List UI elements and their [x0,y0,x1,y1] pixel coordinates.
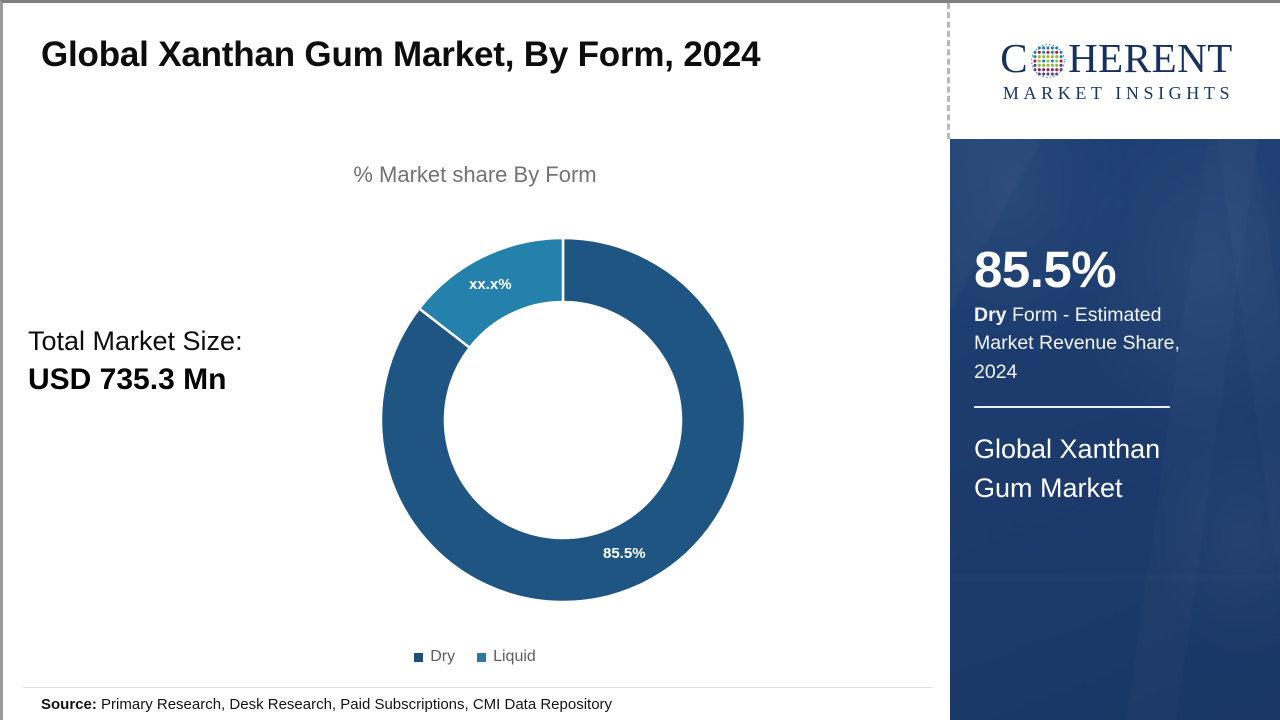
globe-dot [1047,50,1050,53]
globe-dot [1042,72,1045,75]
total-market-size-value: USD 735.3 Mn [28,361,358,399]
brand-wordmark: C HERENT [1000,38,1233,79]
legend-label-liquid: Liquid [493,648,536,666]
source-text: Primary Research, Desk Research, Paid Su… [97,696,612,713]
highlight-panel: 85.5% Dry Form - Estimated Market Revenu… [950,139,1280,720]
globe-dot [1047,46,1050,49]
brand-name-part2: HERENT [1068,38,1233,79]
globe-dot [1055,55,1058,58]
legend-label-dry: Dry [430,648,455,666]
globe-dot [1038,63,1041,66]
globe-dot [1051,63,1054,66]
globe-dot [1033,55,1036,58]
panel-description: Dry Form - Estimated Market Revenue Shar… [974,301,1220,386]
legend-swatch-liquid [477,653,486,662]
globe-dot [1038,55,1041,58]
brand-logo: C HERENT MARKET INSIGHTS [950,3,1280,139]
globe-dot [1038,50,1041,53]
globe-dot [1042,55,1045,58]
chart-subtitle: % Market share By Form [3,162,947,188]
globe-dot [1055,50,1058,53]
panel-content: 85.5% Dry Form - Estimated Market Revenu… [974,244,1244,507]
infographic-canvas: Global Xanthan Gum Market, By Form, 2024… [0,0,1280,720]
globe-dot [1047,72,1050,75]
brand-tagline: MARKET INSIGHTS [999,83,1234,104]
globe-dot [1033,63,1036,66]
globe-dot [1047,68,1050,71]
globe-dot [1047,59,1050,62]
legend-item-dry[interactable]: Dry [414,648,455,666]
source-note: Source: Primary Research, Desk Research,… [41,696,612,713]
chart-legend: Dry Liquid [3,648,947,666]
globe-dot [1051,68,1054,71]
slice-label-liquid: xx.x% [469,276,512,293]
source-divider [23,687,933,688]
dotted-globe-icon [1029,42,1067,80]
globe-dot [1051,55,1054,58]
globe-dot [1047,55,1050,58]
legend-item-liquid[interactable]: Liquid [477,648,536,666]
globe-dot [1060,63,1063,66]
globe-dot [1042,59,1045,62]
donut-chart-svg [381,238,745,602]
globe-dot [1042,68,1045,71]
globe-dot [1060,55,1063,58]
page-title: Global Xanthan Gum Market, By Form, 2024 [41,35,760,75]
donut-chart: xx.x% 85.5% [381,238,745,602]
right-sidebar: C HERENT MARKET INSIGHTS 85.5% Dry Form … [950,3,1280,720]
legend-swatch-dry [414,653,423,662]
panel-percent-value: 85.5% [974,244,1244,296]
globe-dot [1051,72,1054,75]
globe-dot [1042,46,1045,49]
globe-dot [1055,68,1058,71]
globe-dot [1038,68,1041,71]
total-market-size-label: Total Market Size: [28,325,358,359]
globe-dot [1051,50,1054,53]
globe-dot [1042,50,1045,53]
globe-dot [1042,63,1045,66]
panel-description-bold: Dry [974,304,1007,326]
main-content-area: Global Xanthan Gum Market, By Form, 2024… [3,3,947,720]
dotted-globe-svg [1029,42,1067,80]
source-prefix: Source: [41,696,97,713]
slice-label-dry: 85.5% [603,545,646,562]
globe-dot [1033,59,1036,62]
globe-dot [1055,59,1058,62]
globe-dot [1055,63,1058,66]
brand-name-part1: C [1000,38,1028,79]
panel-divider [974,406,1170,408]
panel-market-name: Global Xanthan Gum Market [974,430,1226,507]
globe-dot [1038,59,1041,62]
globe-dot [1051,59,1054,62]
globe-dot [1060,59,1063,62]
total-market-size-block: Total Market Size: USD 735.3 Mn [28,325,358,398]
globe-dot [1047,63,1050,66]
globe-dot [1051,46,1054,49]
